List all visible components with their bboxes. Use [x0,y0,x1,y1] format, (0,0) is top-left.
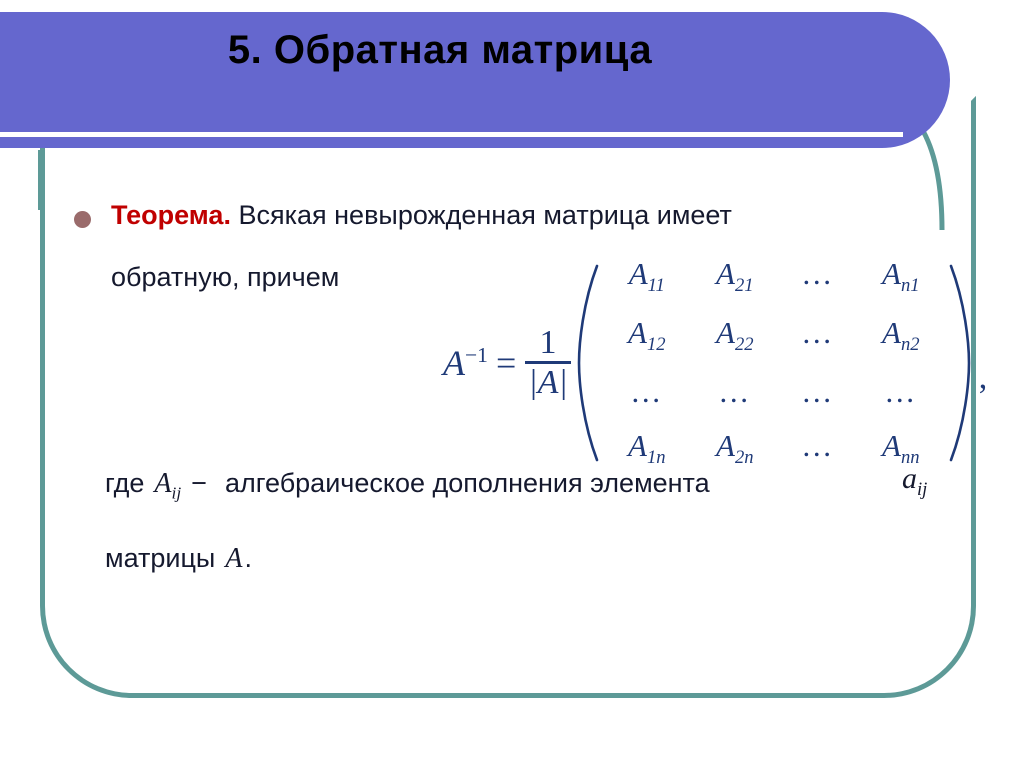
matrix-cell: … [603,374,691,410]
matrix-cell: Ann [857,428,945,469]
matrix-cell: A1n [603,428,691,469]
element-symbol: aij [902,462,927,501]
title-banner-rule [0,132,903,137]
where-prefix: где [105,468,144,499]
cofactor-symbol: Aij [154,468,181,504]
matrix-left-paren [575,263,601,463]
matrix-clause-text: матрицы [105,543,215,574]
equation-trailing-comma: , [979,359,988,397]
matrix-symbol: A [225,543,242,575]
theorem-statement-text: Всякая невырожденная матрица имеет [238,200,731,230]
fraction-numerator: 1 [537,325,560,361]
matrix-cell: … [779,374,857,410]
matrix-cell: … [779,428,857,469]
theorem-statement-line1: Теорема. Всякая невырожденная матрица им… [111,202,732,229]
page-title: 5. Обратная матрица [0,28,1010,73]
matrix-cell: … [691,374,779,410]
theorem-statement-line2: обратную, причем [111,262,339,293]
fraction-denominator: |A| [525,365,570,401]
where-description: алгебраическое дополнения элемента [225,468,710,499]
matrix-cell: A22 [691,315,779,356]
matrix-clause: матрицы A . [105,543,252,575]
matrix-cell: An1 [857,256,945,297]
theorem-bullet-row: Теорема. Всякая невырожденная матрица им… [74,202,732,229]
slide: 5. Обратная матрица Теорема. Всякая невы… [0,0,1024,767]
bullet-dot-icon [74,211,91,228]
inverse-matrix-equation: A−1 = 1 |A| A11 A21 … An1 A12 A22 … An2 … [443,252,987,474]
matrix-cell: … [779,256,857,297]
where-clause: где Aij − алгебраическое дополнения элем… [105,468,710,504]
matrix-cell: A21 [691,256,779,297]
cofactor-matrix: A11 A21 … An1 A12 A22 … An2 … … … … A1n … [601,252,947,474]
equation-lhs-base: A [443,343,465,383]
matrix-clause-period: . [244,543,252,574]
matrix-cell: … [779,315,857,356]
theorem-label: Теорема. [111,200,231,230]
equation-lhs: A−1 [443,342,488,384]
matrix-right-paren [947,263,973,463]
slide-frame-left-stub [38,150,43,210]
matrix-cell: A2n [691,428,779,469]
matrix-cell: An2 [857,315,945,356]
equation-fraction: 1 |A| [525,325,570,401]
matrix-cell: A12 [603,315,691,356]
equation-lhs-exponent: −1 [465,343,488,367]
matrix-cell: A11 [603,256,691,297]
equation-equals-sign: = [496,342,516,384]
matrix-cell: … [857,374,945,410]
where-dash: − [191,468,207,499]
